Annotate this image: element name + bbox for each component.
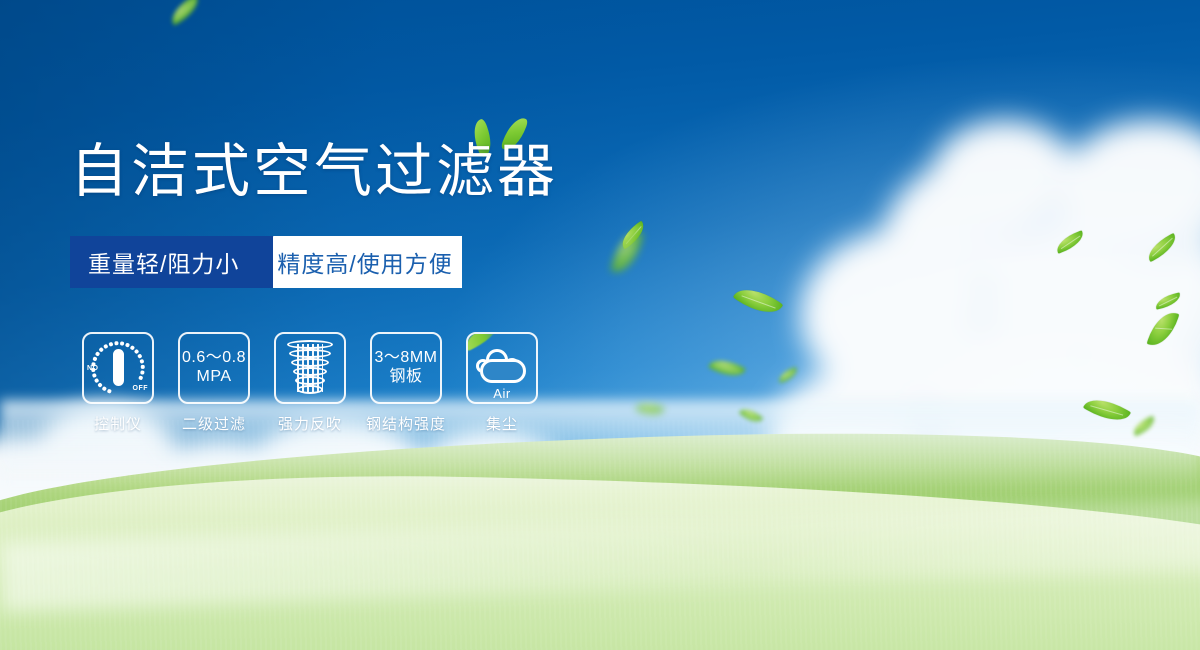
gauge-on-label: NO [87,365,99,372]
feature-item-controller[interactable]: NO OFF 控制仪 [70,332,166,434]
steel-text-icon: 3～8MM 钢板 [375,349,438,387]
pressure-unit: MPA [182,368,246,387]
feature-label-dust-collection: 集尘 [486,413,518,434]
subtitle-right: 精度高/使用方便 [247,236,462,288]
feature-box-dust-collection: Air [466,332,538,404]
feature-label-steel-strength: 钢结构强度 [366,413,446,434]
filter-stack-icon [284,340,336,396]
air-label: Air [474,386,530,401]
steel-thickness: 3～8MM [375,349,438,368]
gauge-off-label: OFF [133,385,149,392]
feature-item-dust-collection[interactable]: Air 集尘 [454,332,550,434]
gauge-icon: NO OFF [87,339,149,397]
product-banner: 自洁式空气过滤器 重量轻/阻力小 精度高/使用方便 [0,0,1200,650]
cloud-air-icon: Air [474,345,530,391]
feature-label-backblow: 强力反吹 [278,413,342,434]
feature-box-steel-strength: 3～8MM 钢板 [370,332,442,404]
feature-box-backblow [274,332,346,404]
grass-field [0,400,1200,650]
feature-item-secondary-filter[interactable]: 0.6～0.8 MPA 二级过滤 [166,332,262,434]
feature-box-secondary-filter: 0.6～0.8 MPA [178,332,250,404]
feature-list: NO OFF 控制仪 0.6～0.8 MPA 二级过滤 [70,332,550,434]
subtitle-left: 重量轻/阻力小 [70,236,273,288]
feature-box-controller: NO OFF [82,332,154,404]
feature-label-secondary-filter: 二级过滤 [182,413,246,434]
pressure-value: 0.6～0.8 [182,349,246,368]
feature-label-controller: 控制仪 [94,413,142,434]
pressure-text-icon: 0.6～0.8 MPA [182,349,246,387]
feature-item-backblow[interactable]: 强力反吹 [262,332,358,434]
subtitle-bar: 重量轻/阻力小 精度高/使用方便 [70,236,462,288]
feature-item-steel-strength[interactable]: 3～8MM 钢板 钢结构强度 [358,332,454,434]
cloud-body-icon [480,359,526,383]
steel-material: 钢板 [375,368,438,387]
page-title: 自洁式空气过滤器 [70,143,558,201]
gauge-needle-icon [113,349,124,386]
